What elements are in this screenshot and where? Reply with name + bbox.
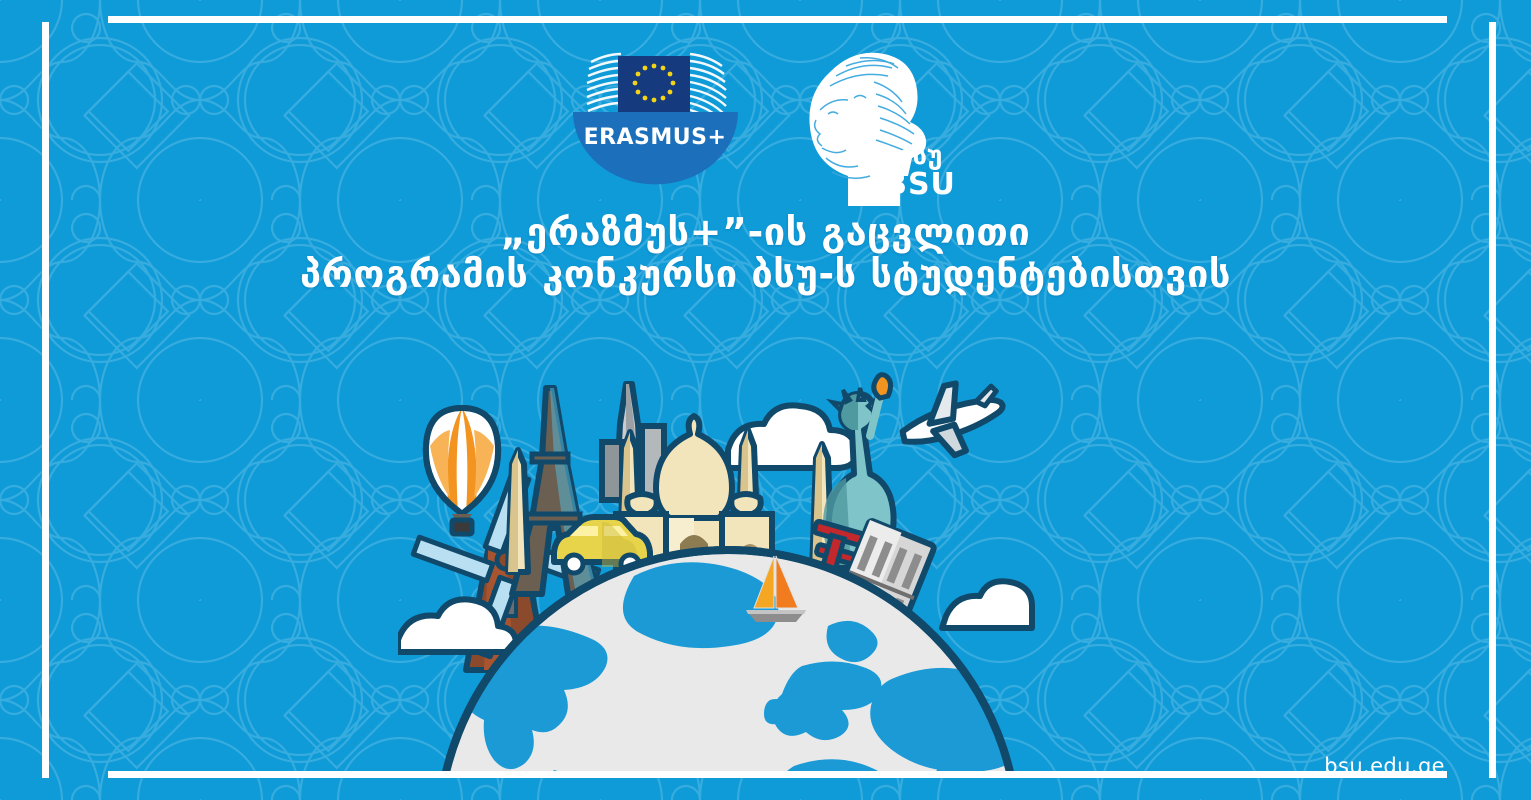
site-url[interactable]: bsu.edu.ge: [1324, 754, 1445, 778]
frame-line-bottom: [108, 771, 1447, 778]
frame-line-left: [42, 22, 49, 778]
logo-row: ERASMUS+: [0, 36, 1531, 211]
hot-air-balloon-icon: [426, 408, 498, 534]
title-line-2: პროგრამის კონკურსი ბსუ-ს სტუდენტებისთვის: [0, 254, 1531, 296]
frame-line-top: [108, 16, 1447, 23]
erasmus-plus-logo: ERASMUS+: [563, 36, 748, 196]
airplane-icon: [895, 375, 1010, 465]
world-travel-globe-illustration: [398, 370, 1058, 790]
bsu-logo: ბსუ BSU: [788, 36, 968, 211]
title-line-1: „ერაზმუს+”-ის გაცვლითი: [0, 212, 1531, 254]
poster-title: „ერაზმუს+”-ის გაცვლითი პროგრამის კონკურს…: [0, 212, 1531, 296]
cloud-icon: [942, 581, 1032, 628]
bsu-latin-acronym: BSU: [884, 167, 956, 202]
frame-line-right: [1489, 22, 1496, 778]
erasmus-wordmark: ERASMUS+: [584, 125, 727, 150]
poster-canvas: ERASMUS+: [0, 0, 1531, 800]
